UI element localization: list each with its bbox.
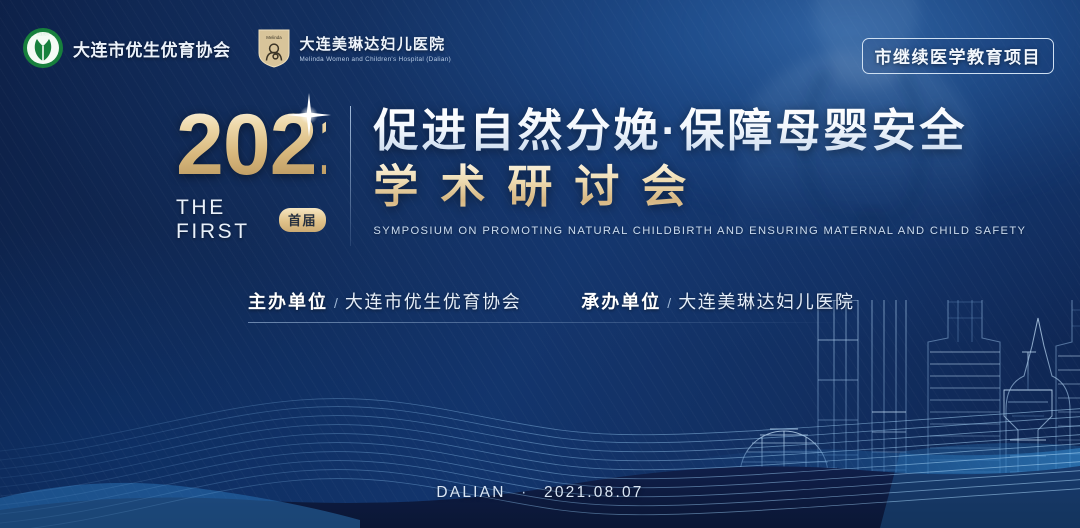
banner-header: 优生优育 大连市优生优育协会 Melinda 大连美琳达妇儿医院 <box>0 0 1080 92</box>
organizer-host: 主办单位 / 大连市优生优育协会 <box>248 288 521 314</box>
subtitle-english: SYMPOSIUM ON PROMOTING NATURAL CHILDBIRT… <box>373 225 1080 237</box>
organizer-co-host: 承办单位 / 大连美琳达妇儿医院 <box>581 288 854 314</box>
hospital-name-cn: 大连美琳达妇儿医院 <box>300 33 452 54</box>
mother-and-child-shield-logo-icon: Melinda <box>257 27 291 69</box>
host-separator: / <box>334 295 338 311</box>
conference-banner: 优生优育 大连市优生优育协会 Melinda 大连美琳达妇儿医院 <box>0 0 1080 528</box>
the-first-label: THE FIRST <box>176 196 270 244</box>
year-column: 2021 THE FIRST 首届 <box>176 104 326 244</box>
host-label: 主办单位 <box>248 288 328 314</box>
hospital-logo: Melinda 大连美琳达妇儿医院 Melinda Women and Chil… <box>257 27 452 69</box>
association-logo: 优生优育 大连市优生优育协会 <box>22 27 231 69</box>
host-value: 大连市优生优育协会 <box>345 288 521 314</box>
hero-block: 2021 THE FIRST 首届 <box>0 104 1080 246</box>
co-host-label: 承办单位 <box>581 288 661 314</box>
footer-city: DALIAN <box>436 484 505 501</box>
organizers-divider <box>248 322 848 323</box>
first-edition-pill: 首届 <box>279 208 326 232</box>
footer-location-date: DALIAN · 2021.08.07 <box>0 484 1080 502</box>
footer-dot: · <box>521 484 528 501</box>
footer-date: 2021.08.07 <box>544 484 644 501</box>
co-host-separator: / <box>667 295 671 311</box>
svg-text:优生优育: 优生优育 <box>37 31 49 36</box>
leaf-shield-logo-icon: 优生优育 <box>22 27 64 69</box>
co-host-value: 大连美琳达妇儿医院 <box>678 288 854 314</box>
hospital-name-block: 大连美琳达妇儿医院 Melinda Women and Children's H… <box>300 33 452 63</box>
wave-lines <box>0 398 1080 528</box>
title-line-1: 促进自然分娩·保障母婴安全 <box>373 106 1080 156</box>
year-2021: 2021 <box>176 104 326 187</box>
cme-program-badge: 市继续医学教育项目 <box>862 38 1055 74</box>
title-column: 促进自然分娩·保障母婴安全 学术研讨会 SYMPOSIUM ON PROMOTI… <box>373 104 1080 237</box>
association-name: 大连市优生优育协会 <box>73 36 231 61</box>
hospital-name-en: Melinda Women and Children's Hospital (D… <box>300 56 452 63</box>
organizers-row: 主办单位 / 大连市优生优育协会 承办单位 / 大连美琳达妇儿医院 <box>248 288 855 314</box>
logo-row: 优生优育 大连市优生优育协会 Melinda 大连美琳达妇儿医院 <box>22 27 451 69</box>
svg-text:Melinda: Melinda <box>266 35 282 40</box>
the-first-row: THE FIRST 首届 <box>176 196 326 244</box>
title-line-2: 学术研讨会 <box>373 159 1080 215</box>
